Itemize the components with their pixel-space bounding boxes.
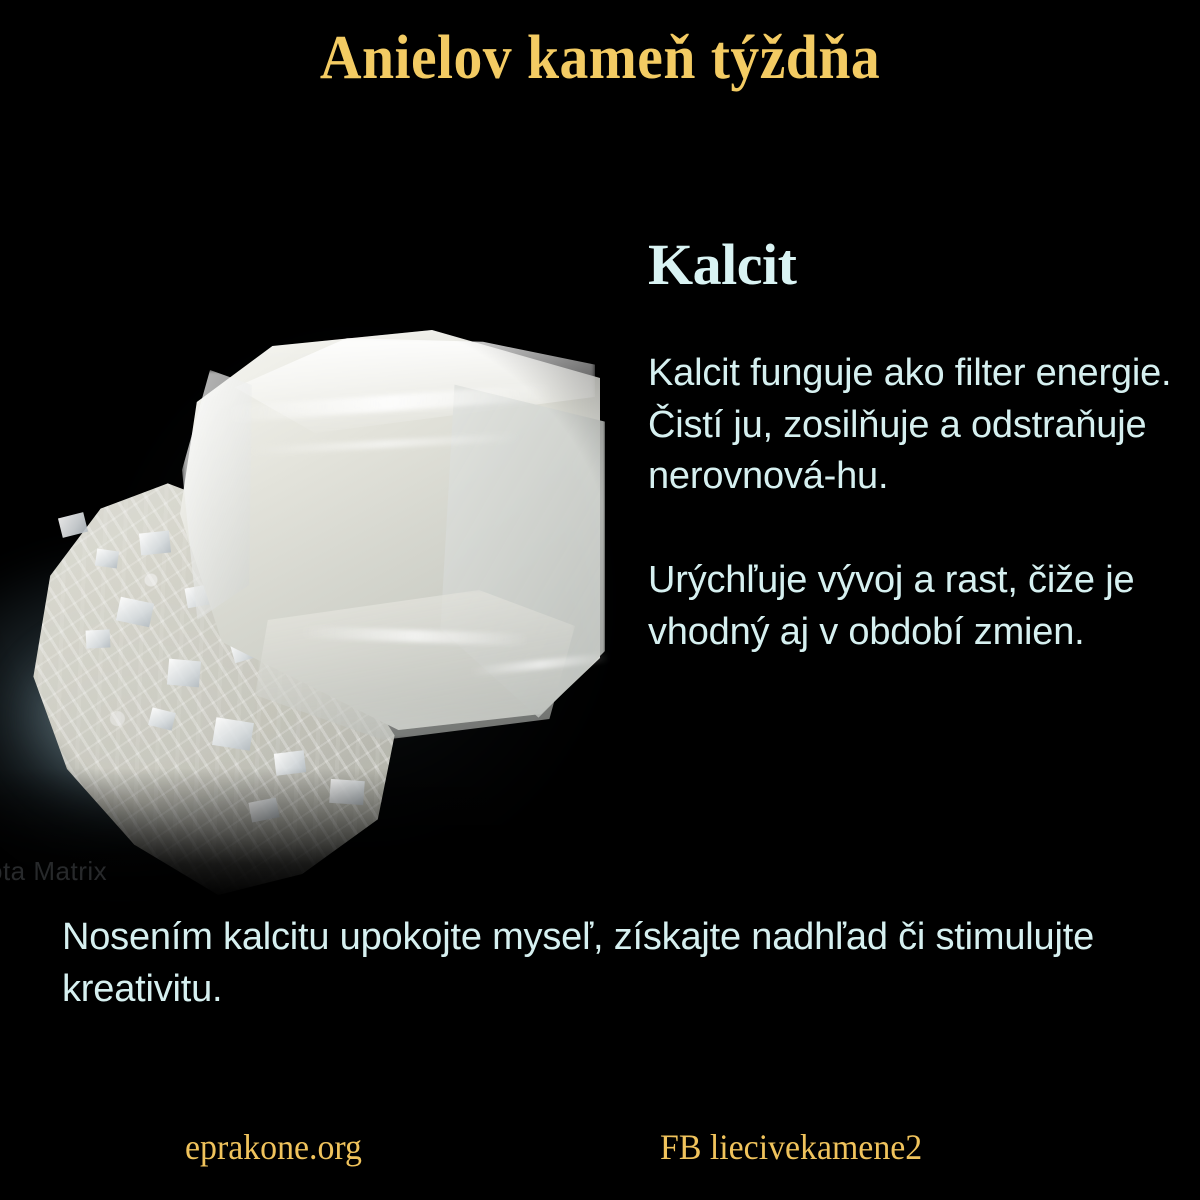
druzy-facet <box>212 717 254 751</box>
druzy-facet <box>139 530 171 555</box>
stone-description-paragraph-2: Urýchľuje vývoj a rast, čiže je vhodný a… <box>648 555 1178 658</box>
crystal-photo <box>0 300 640 900</box>
stone-info-column: Kalcit Kalcit funguje ako filter energie… <box>648 236 1178 658</box>
druzy-facet <box>329 779 365 805</box>
druzy-facet <box>95 549 119 569</box>
druzy-facet <box>167 659 201 688</box>
stone-name-heading: Kalcit <box>648 236 1178 294</box>
stone-description-paragraph-1: Kalcit funguje ako filter energie. Čistí… <box>648 348 1178 503</box>
page-title: Anielov kameň týždňa <box>42 26 1158 91</box>
druzy-facet <box>86 629 111 648</box>
footer-facebook-link[interactable]: FB liecivekamene2 <box>660 1126 922 1168</box>
photo-watermark: ota Matrix <box>0 856 107 887</box>
poster-canvas: Anielov kameň týždňa ota Mat <box>0 0 1200 1200</box>
stone-closing-paragraph: Nosením kalcitu upokojte myseľ, získajte… <box>62 912 1152 1015</box>
druzy-facet <box>274 750 306 775</box>
footer: eprakone.org FB liecivekamene2 <box>0 1126 1200 1186</box>
footer-website-link[interactable]: eprakone.org <box>185 1126 362 1168</box>
